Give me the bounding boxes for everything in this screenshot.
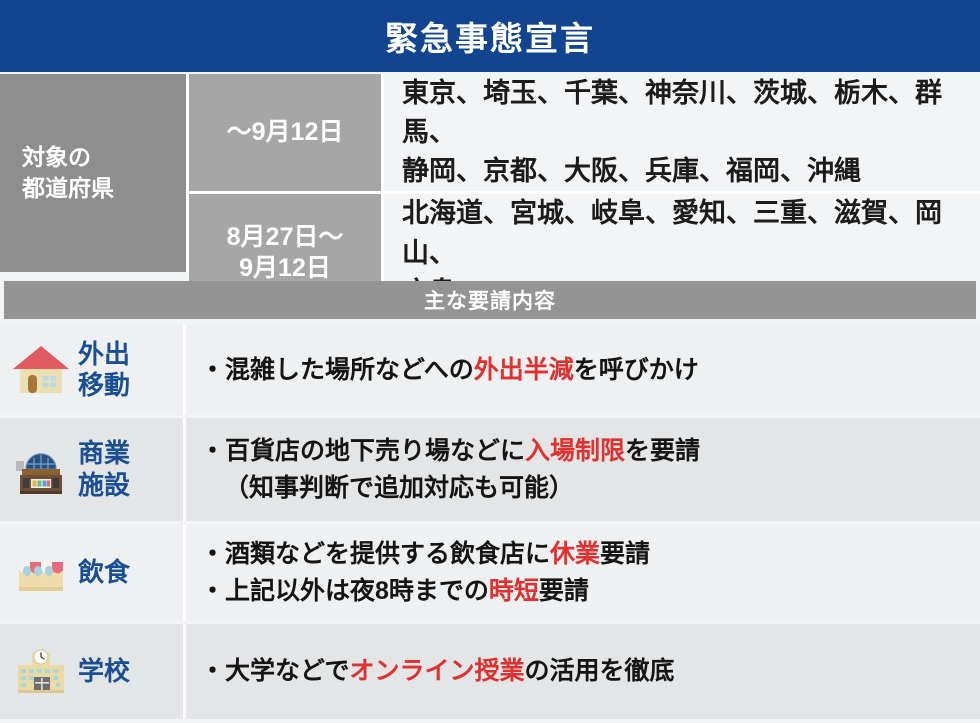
measure-category-label: 飲食: [78, 557, 130, 588]
period-line1: 〜9月12日: [227, 118, 344, 146]
prefecture-list-line1: 東京、埼玉、千葉、神奈川、茨城、栃木、群馬、: [402, 78, 942, 147]
target-prefectures-label: 対象の 都道府県: [22, 142, 114, 204]
period-cell: 〜9月12日: [189, 74, 381, 191]
bullet-suffix: を呼びかけ: [574, 356, 699, 384]
title-bar: 緊急事態宣言: [0, 0, 980, 72]
measure-category-label: 学校: [78, 656, 130, 687]
measure-bullet: ・混雑した場所などへの外出半減を呼びかけ: [200, 352, 970, 388]
bullet-emphasis: オンライン授業: [350, 657, 525, 685]
measure-category-cell: 外出 移動: [0, 325, 186, 415]
measure-row: 外出 移動 ・混雑した場所などへの外出半減を呼びかけ: [0, 325, 980, 415]
measure-category-line1: 学校: [78, 656, 130, 686]
bullet-prefix: ・百貨店の地下売り場などに: [200, 437, 525, 465]
prefecture-list-text: 東京、埼玉、千葉、神奈川、茨城、栃木、群馬、 静岡、京都、大阪、兵庫、福岡、沖縄: [402, 74, 966, 191]
measure-category-line1: 飲食: [78, 557, 130, 587]
bullet-suffix: を要請: [625, 437, 700, 465]
bullet-prefix: ・酒類などを提供する飲食店に: [200, 540, 550, 568]
department-store-icon: [10, 439, 72, 501]
period-text: 〜9月12日: [227, 117, 344, 148]
target-prefectures-label-cell: 対象の 都道府県: [0, 74, 186, 272]
measure-body-cell: ・百貨店の地下売り場などに入場制限を要請 （知事判断で追加対応も可能）: [186, 418, 980, 521]
measure-bullet: ・酒類などを提供する飲食店に休業要請: [200, 536, 970, 572]
target-prefectures-label-line1: 対象の: [22, 144, 91, 170]
section-header-bar: 主な要請内容: [4, 281, 976, 319]
bullet-prefix: ・混雑した場所などへの: [200, 356, 474, 384]
measure-body-cell: ・混雑した場所などへの外出半減を呼びかけ: [186, 325, 980, 415]
period-line2: 9月12日: [239, 254, 331, 282]
page-title: 緊急事態宣言: [385, 12, 595, 60]
measure-category-line2: 施設: [78, 470, 130, 500]
prefecture-rows: 〜9月12日 東京、埼玉、千葉、神奈川、茨城、栃木、群馬、 静岡、京都、大阪、兵…: [186, 74, 980, 272]
measure-body-cell: ・大学などでオンライン授業の活用を徹底: [186, 624, 980, 719]
period-text: 8月27日〜 9月12日: [227, 222, 344, 285]
measure-category-line2: 移動: [78, 370, 130, 400]
measure-category-line1: 外出: [78, 339, 130, 369]
measure-category-label: 外出 移動: [78, 339, 130, 401]
measure-bullet: （知事判断で追加対応も可能）: [200, 470, 970, 506]
measure-row: 商業 施設 ・百貨店の地下売り場などに入場制限を要請 （知事判断で追加対応も可能…: [0, 418, 980, 521]
bullet-emphasis: 休業: [550, 540, 600, 568]
bullet-suffix: 要請: [600, 540, 650, 568]
measure-row: 飲食 ・酒類などを提供する飲食店に休業要請 ・上記以外は夜8時までの時短要請: [0, 524, 980, 621]
bullet-emphasis: 外出半減: [474, 356, 574, 384]
bullet-prefix: （知事判断で追加対応も可能）: [224, 474, 574, 502]
bullet-prefix: ・上記以外は夜8時までの: [200, 577, 489, 605]
section-header-title: 主な要請内容: [424, 285, 556, 315]
measure-category-line1: 商業: [78, 438, 130, 468]
prefecture-list-cell: 東京、埼玉、千葉、神奈川、茨城、栃木、群馬、 静岡、京都、大阪、兵庫、福岡、沖縄: [381, 74, 980, 191]
measure-category-cell: 商業 施設: [0, 418, 186, 521]
emergency-declaration-infographic: 緊急事態宣言 対象の 都道府県 〜9月12日 東京、埼玉、千葉、神奈川、茨城、栃…: [0, 0, 980, 723]
period-line1: 8月27日〜: [227, 223, 344, 251]
bullet-emphasis: 時短: [489, 577, 539, 605]
school-icon: [10, 641, 72, 703]
target-prefectures-label-line2: 都道府県: [22, 175, 114, 201]
measure-bullet: ・大学などでオンライン授業の活用を徹底: [200, 653, 970, 689]
bullet-emphasis: 入場制限: [525, 437, 625, 465]
measure-category-label: 商業 施設: [78, 438, 130, 500]
measure-category-cell: 飲食: [0, 524, 186, 621]
measure-category-cell: 学校: [0, 624, 186, 719]
table-row: 〜9月12日 東京、埼玉、千葉、神奈川、茨城、栃木、群馬、 静岡、京都、大阪、兵…: [189, 74, 980, 194]
house-icon: [10, 339, 72, 401]
bullet-suffix: の活用を徹底: [525, 657, 675, 685]
measure-row: 学校 ・大学などでオンライン授業の活用を徹底: [0, 624, 980, 719]
measure-bullet: ・百貨店の地下売り場などに入場制限を要請: [200, 433, 970, 469]
prefecture-list-line2: 静岡、京都、大阪、兵庫、福岡、沖縄: [402, 156, 861, 186]
bullet-suffix: 要請: [539, 577, 589, 605]
target-prefectures-table: 対象の 都道府県 〜9月12日 東京、埼玉、千葉、神奈川、茨城、栃木、群馬、 静…: [0, 74, 980, 272]
measure-body-cell: ・酒類などを提供する飲食店に休業要請 ・上記以外は夜8時までの時短要請: [186, 524, 980, 621]
bullet-prefix: ・大学などで: [200, 657, 350, 685]
restaurant-icon: [10, 542, 72, 604]
measures-list: 外出 移動 ・混雑した場所などへの外出半減を呼びかけ: [0, 325, 980, 722]
prefecture-list-line1: 北海道、宮城、岐阜、愛知、三重、滋賀、岡山、: [402, 198, 942, 267]
measure-bullet: ・上記以外は夜8時までの時短要請: [200, 573, 970, 609]
